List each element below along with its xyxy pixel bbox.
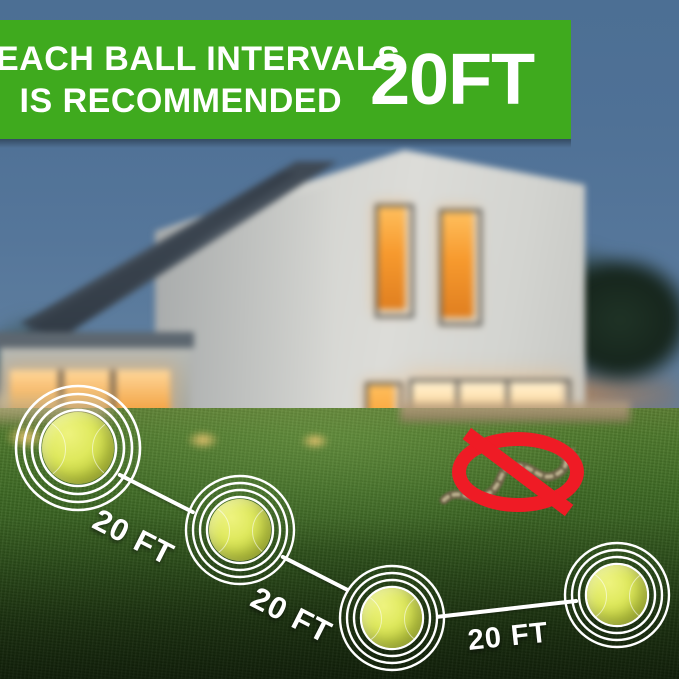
tennis-ball-1 bbox=[42, 412, 114, 484]
banner-line-1: EACH BALL INTERVALS bbox=[0, 42, 348, 76]
garden-light-3 bbox=[300, 432, 330, 450]
headline-banner: EACH BALL INTERVALS IS RECOMMENDED 20FT bbox=[0, 20, 571, 139]
house-side-wing-roof bbox=[0, 332, 194, 348]
product-image: 20 FT 20 FT 20 FT EACH BALL INTERVALS IS… bbox=[0, 0, 679, 679]
terrace-paving bbox=[400, 402, 630, 422]
tennis-ball-4 bbox=[587, 565, 647, 625]
tennis-ball-2 bbox=[209, 499, 271, 561]
banner-drop-shadow bbox=[0, 139, 571, 148]
window-upper-left-frame bbox=[375, 204, 414, 318]
banner-line-2: IS RECOMMENDED bbox=[0, 84, 348, 118]
banner-measurement: 20FT bbox=[370, 44, 534, 116]
tennis-ball-3 bbox=[362, 588, 422, 648]
window-upper-right-frame bbox=[439, 209, 482, 326]
garden-light-2 bbox=[186, 430, 220, 450]
ball-marker-4 bbox=[563, 541, 671, 649]
ball-marker-3 bbox=[338, 564, 446, 672]
ball-marker-1 bbox=[14, 384, 142, 512]
banner-headline: EACH BALL INTERVALS IS RECOMMENDED bbox=[0, 42, 348, 118]
ball-marker-2 bbox=[184, 474, 296, 586]
no-snakes-symbol bbox=[452, 432, 584, 512]
